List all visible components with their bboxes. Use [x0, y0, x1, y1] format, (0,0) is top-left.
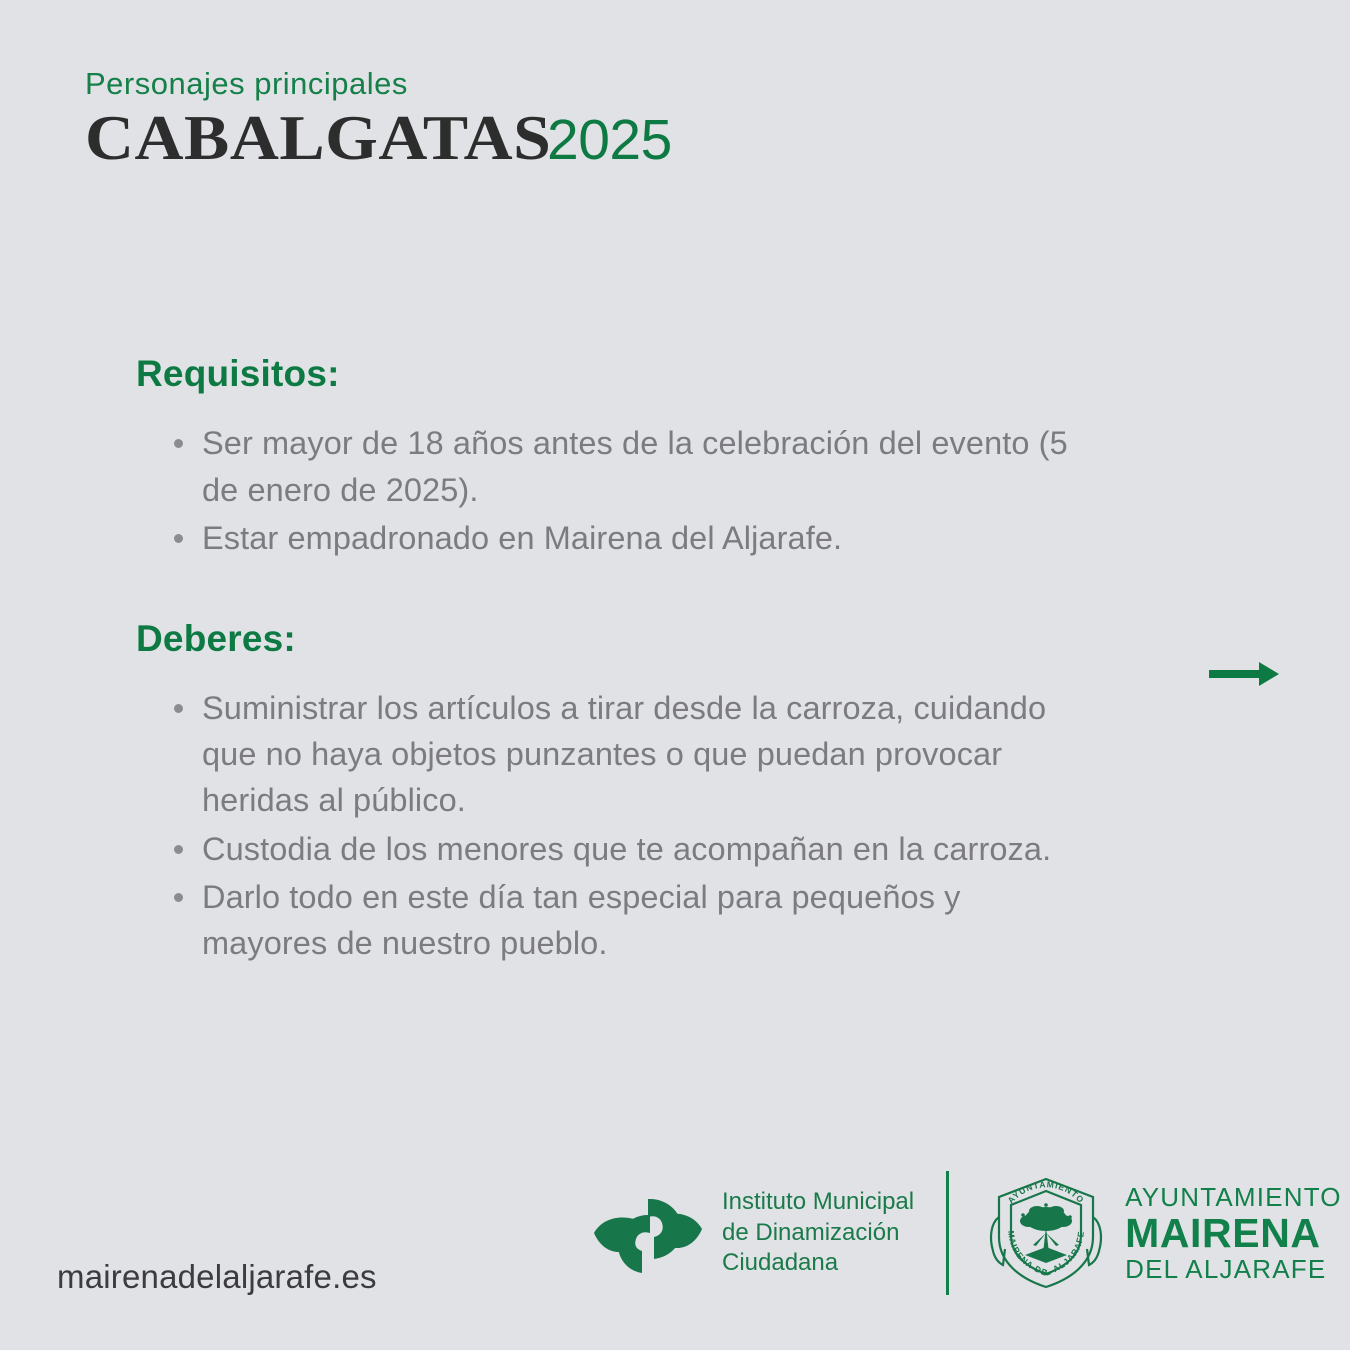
site-url[interactable]: mairenadelaljarafe.es	[57, 1258, 377, 1296]
imd-logo-line-1: Instituto Municipal	[722, 1187, 914, 1218]
section-requisitos: Requisitos: Ser mayor de 18 años antes d…	[136, 352, 1096, 561]
arrow-right-icon[interactable]	[1209, 650, 1281, 698]
ayuntamiento-line-3: DEL ALJARAFE	[1125, 1255, 1342, 1283]
ayuntamiento-logo: AYUNTAMIENTO MAIRENA DEL ALJARAFE	[987, 1175, 1342, 1291]
page-title-year: 2025	[547, 112, 672, 169]
imd-logo-text: Instituto Municipal de Dinamización Ciud…	[722, 1187, 914, 1279]
poster-header: Personajes principales CABALGATAS 2025	[85, 66, 672, 170]
footer-logo-bar: Instituto Municipal de Dinamización Ciud…	[592, 1168, 1342, 1298]
poster-content: Requisitos: Ser mayor de 18 años antes d…	[136, 352, 1096, 968]
poster-canvas: Personajes principales CABALGATAS 2025 R…	[0, 0, 1350, 1350]
list-item: Suministrar los artículos a tirar desde …	[174, 685, 1082, 823]
imd-logo-line-3: Ciudadana	[722, 1248, 914, 1279]
ayuntamiento-line-2: MAIRENA	[1125, 1211, 1342, 1255]
list-item: Estar empadronado en Mairena del Aljaraf…	[174, 515, 1082, 561]
section-heading-requisitos: Requisitos:	[136, 352, 1096, 396]
mairena-coat-of-arms-icon: AYUNTAMIENTO MAIRENA DEL ALJARAFE	[987, 1175, 1105, 1291]
imd-interlocking-mark-icon	[592, 1189, 704, 1277]
footer-divider	[946, 1171, 949, 1295]
section-heading-deberes: Deberes:	[136, 617, 1096, 661]
header-title-row: CABALGATAS 2025	[85, 106, 672, 170]
requisitos-list: Ser mayor de 18 años antes de la celebra…	[136, 420, 1096, 560]
list-item: Custodia de los menores que te acompañan…	[174, 826, 1082, 872]
page-title: CABALGATAS	[85, 106, 551, 170]
ayuntamiento-logo-text: AYUNTAMIENTO MAIRENA DEL ALJARAFE	[1125, 1183, 1342, 1283]
header-kicker: Personajes principales	[85, 66, 672, 102]
deberes-list: Suministrar los artículos a tirar desde …	[136, 685, 1096, 966]
list-item: Ser mayor de 18 años antes de la celebra…	[174, 420, 1082, 512]
section-deberes: Deberes: Suministrar los artículos a tir…	[136, 617, 1096, 966]
list-item: Darlo todo en este día tan especial para…	[174, 874, 1082, 966]
ayuntamiento-line-1: AYUNTAMIENTO	[1125, 1183, 1342, 1211]
imd-logo: Instituto Municipal de Dinamización Ciud…	[592, 1187, 914, 1279]
imd-logo-line-2: de Dinamización	[722, 1218, 914, 1249]
